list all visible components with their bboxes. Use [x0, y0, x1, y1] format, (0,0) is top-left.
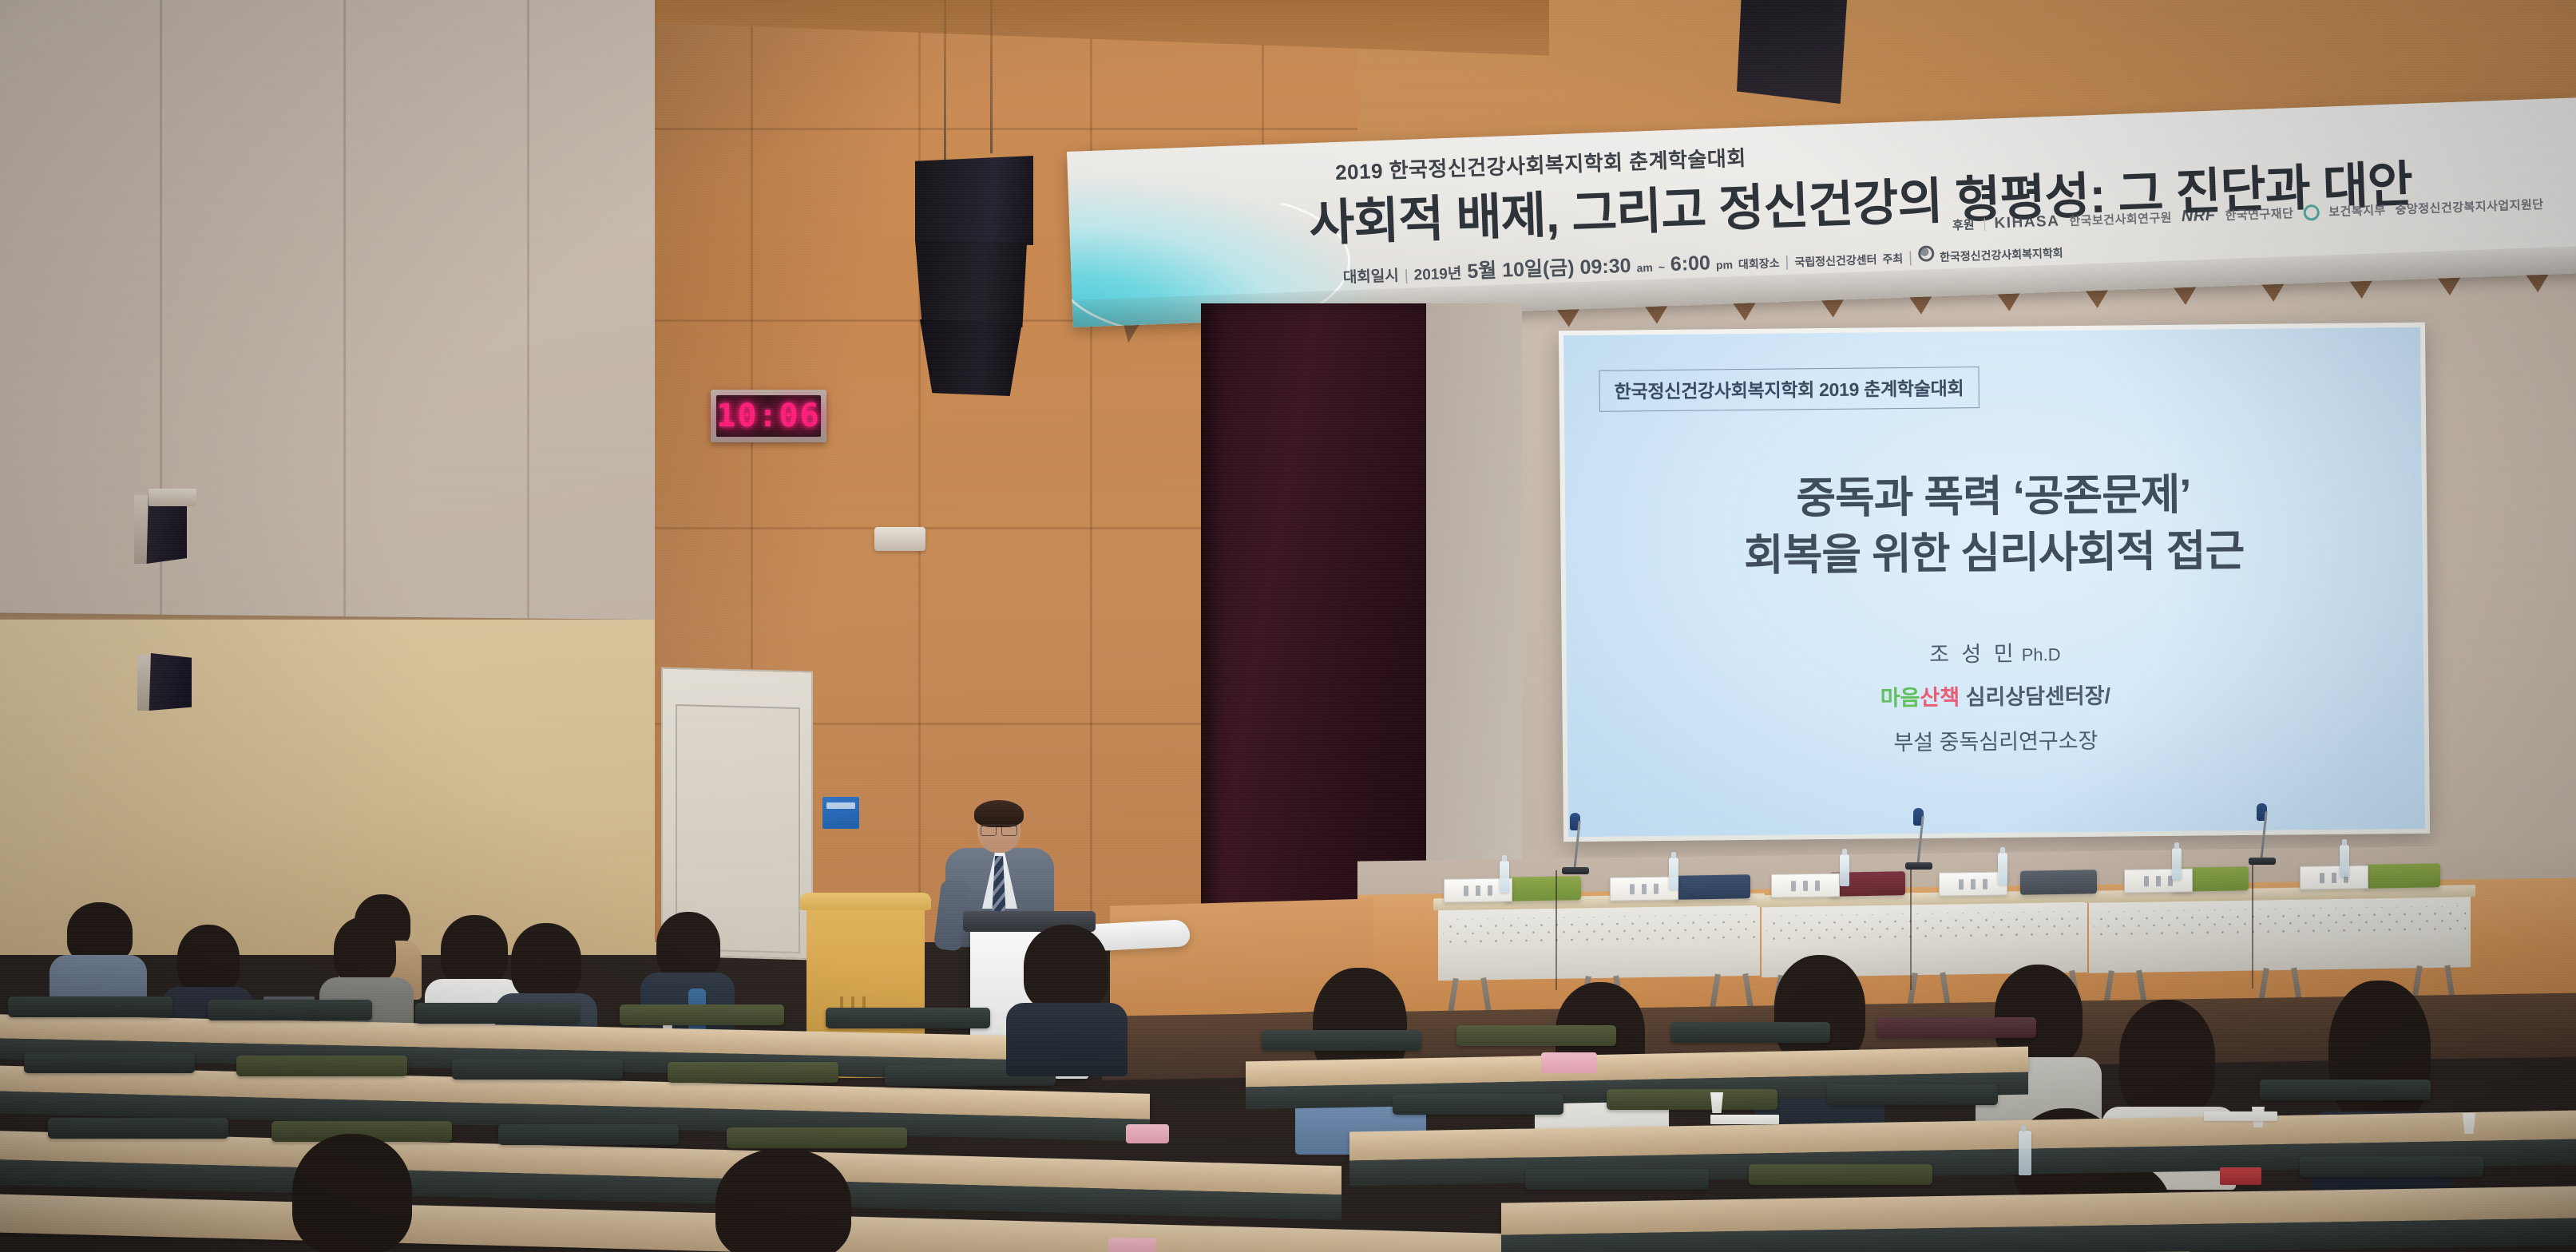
- banner-month: 5월: [1467, 255, 1497, 284]
- slide-title-line1: 중독과 폭력 ‘공존문제’: [1565, 465, 2423, 530]
- pink-pouch-2: [1541, 1052, 1597, 1073]
- red-box-item: [2220, 1167, 2261, 1185]
- banner-host-label: 주최: [1882, 251, 1903, 267]
- audience-desk-row-6: [1349, 1111, 2576, 1161]
- paper-sheet-3: [1710, 1115, 1779, 1124]
- banner-time-dash: ~: [1659, 260, 1666, 273]
- audience-seat-9: [668, 1062, 838, 1083]
- banner-time-end: 6:00: [1670, 252, 1710, 276]
- audience-seat-21: [1827, 1084, 1998, 1105]
- banner-date-label: 대회일시: [1342, 263, 1399, 287]
- audience-seat-19: [1393, 1094, 1563, 1115]
- audience-seat-4: [620, 1004, 784, 1025]
- audience-seat-17: [1670, 1022, 1830, 1043]
- panel-table-3: [2084, 885, 2475, 993]
- panel-microphone-2: [1916, 808, 1920, 867]
- line-array-speaker-icon: [870, 0, 1078, 415]
- panel-nameplate-6: [2300, 865, 2368, 889]
- wall-camera-icon: [149, 489, 196, 506]
- slide-header-tag: 한국정신건강사회복지학회 2019 춘계학술대회: [1599, 366, 1979, 412]
- audience-seat-25: [2300, 1156, 2483, 1177]
- audience-seat-13: [498, 1124, 679, 1145]
- audience-seat-2: [208, 1000, 372, 1020]
- banner-sep-3: |: [1908, 249, 1913, 267]
- presenter-name: 조 성 민: [1929, 642, 2017, 667]
- banner-time-start-unit: am: [1636, 261, 1653, 275]
- banner-sep-1: |: [1404, 267, 1409, 285]
- audience-seat-15: [1262, 1030, 1421, 1051]
- banner-day: 10일(금): [1501, 252, 1575, 283]
- audience-seat-18: [1877, 1017, 2036, 1038]
- pink-pouch-3: [1108, 1238, 1156, 1252]
- audience-seat-8: [452, 1059, 623, 1080]
- water-bottle-1: [1500, 861, 1509, 893]
- mic-cable-3: [2252, 861, 2253, 989]
- sponsor-logo-nrf-ko: 한국연구재단: [2225, 204, 2294, 224]
- audience-person-17: [279, 1134, 423, 1252]
- slide-title: 중독과 폭력 ‘공존문제’ 회복을 위한 심리사회적 접근: [1565, 465, 2423, 587]
- ceiling-speaker-icon: [1737, 0, 1847, 104]
- audience-seat-6: [24, 1052, 195, 1073]
- audience-person-18: [703, 1148, 862, 1252]
- slide-presenter: 조 성 민Ph.D: [1567, 632, 2423, 672]
- stage-curtain: [1201, 303, 1426, 934]
- wall-speaker-icon-lower: [145, 653, 192, 711]
- host-logo-icon: [1918, 245, 1935, 262]
- pink-pouch-1: [1126, 1124, 1169, 1143]
- audience-seat-14: [727, 1127, 907, 1148]
- banner-year: 2019년: [1413, 261, 1462, 284]
- upper-left-wall: [0, 0, 671, 631]
- audience-seat-5: [826, 1008, 990, 1028]
- sponsor-logo-nrf: NRF: [2182, 207, 2216, 227]
- audience-person-1: [56, 902, 144, 1006]
- brand-green-text: 마음: [1880, 686, 1920, 710]
- door-sign-icon: [822, 797, 859, 829]
- water-bottle-3: [1840, 854, 1849, 886]
- panel-nameplate-5: [2124, 868, 2193, 893]
- panel-microphone-1: [1573, 813, 1576, 872]
- audience-seat-16: [1456, 1025, 1616, 1046]
- brand-red-text: 산책: [1920, 685, 1960, 709]
- auditorium-photo-scene: 10:06 2019 한국정신건강사회복지학회 춘계학술대회 사회적 배제, 그…: [0, 0, 2576, 1252]
- audience-seat-22: [2260, 1080, 2431, 1100]
- wall-sensor-box: [874, 527, 925, 551]
- panel-microphone-3: [2260, 803, 2263, 862]
- stage-digital-clock: 10:06: [711, 390, 826, 442]
- banner-time-end-unit: pm: [1716, 258, 1734, 271]
- audience-seat-1: [8, 996, 172, 1017]
- audience-person-8: [1013, 925, 1121, 1060]
- banner-time-start: 09:30: [1579, 255, 1631, 279]
- audience-seat-3: [415, 1003, 580, 1024]
- audience-seat-24: [1749, 1164, 1932, 1185]
- sponsor-logo-kihasa: KIHASA: [1994, 212, 2060, 232]
- projection-screen: 한국정신건강사회복지학회 2019 춘계학술대회 중독과 폭력 ‘공존문제’ 회…: [1563, 327, 2425, 837]
- wall-speaker-bracket: [134, 495, 149, 564]
- audience-person-12: [1982, 965, 2095, 1121]
- paper-sheet-2: [2204, 1111, 2277, 1121]
- slide-title-line2: 회복을 위한 심리사회적 접근: [1565, 521, 2423, 587]
- projection-screen-frame: 한국정신건강사회복지학회 2019 춘계학술대회 중독과 폭력 ‘공존문제’ 회…: [1559, 323, 2430, 842]
- banner-sep-2: |: [1785, 254, 1789, 271]
- panel-chair-4: [2020, 870, 2097, 895]
- eyeglasses-icon: [981, 824, 1017, 833]
- audience-seat-11: [48, 1118, 228, 1139]
- slide-affiliation-line2: 부설 중독심리연구소장: [1567, 720, 2424, 759]
- panel-chair-2: [1674, 874, 1750, 900]
- panel-chair-6: [2364, 863, 2440, 889]
- audience-seat-7: [236, 1056, 407, 1076]
- water-bottle-4: [1998, 853, 2007, 885]
- mic-cable-2: [1910, 866, 1912, 990]
- banner-host-value: 한국정신건강사회복지학회: [1940, 244, 2063, 265]
- panel-chair-1: [1504, 876, 1581, 901]
- sponsor-mark-icon: [2303, 204, 2320, 220]
- wall-speaker-bracket-lower: [137, 655, 150, 711]
- sponsor-divider: [1984, 217, 1985, 230]
- sponsor-logo-kihasa-ko: 한국보건사회연구원: [2069, 209, 2172, 230]
- mic-cable-1: [1556, 870, 1557, 990]
- water-bottle-5: [2172, 848, 2182, 880]
- sponsor-label: 후원: [1952, 216, 1975, 233]
- sponsor-logo-mohw: 보건복지부: [2328, 201, 2386, 220]
- water-bottle-2: [1669, 858, 1678, 889]
- sponsor-logo-center: 중앙정신건강복지사업지원단: [2395, 196, 2544, 218]
- water-bottle-6: [2340, 845, 2349, 877]
- banner-place-value: 국립정신건강센터: [1794, 252, 1877, 271]
- affiliation-rest: 심리상담센터장/: [1960, 684, 2110, 710]
- presenter-degree: Ph.D: [2022, 644, 2061, 664]
- audience-seat-20: [1607, 1089, 1777, 1110]
- slide-affiliation-line1: 마음산책 심리상담센터장/: [1567, 676, 2423, 715]
- audience-seat-23: [1525, 1169, 1709, 1190]
- banner-place-label: 대회장소: [1738, 255, 1780, 272]
- panel-nameplate-3: [1771, 873, 1840, 897]
- clock-time-readout: 10:06: [716, 398, 820, 434]
- stage-side-panel: [1426, 303, 1522, 910]
- water-bottle-7: [2019, 1131, 2031, 1175]
